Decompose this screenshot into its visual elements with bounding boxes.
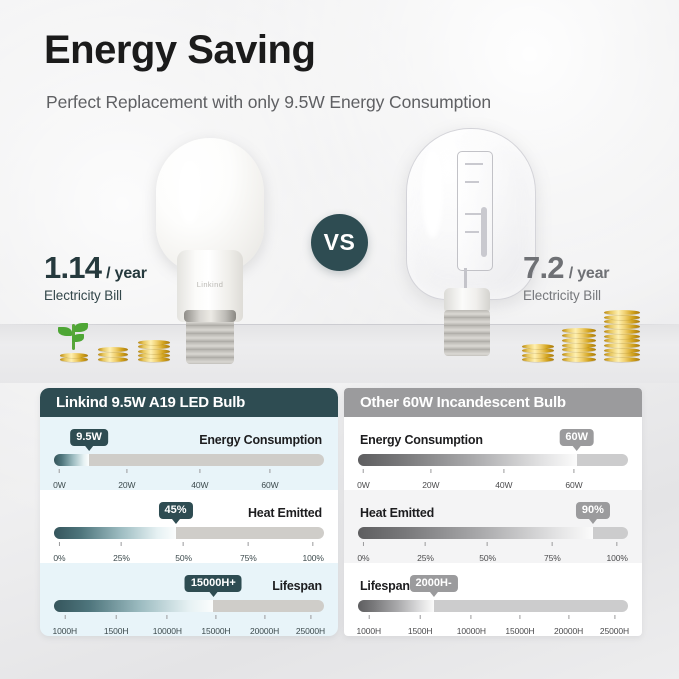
bill-amount: 7.2 (523, 250, 564, 286)
coin-stack (522, 344, 554, 362)
bill-period: / year (106, 265, 147, 283)
axis-tick: 15000H (201, 615, 230, 636)
coin (562, 352, 596, 357)
coin (604, 310, 640, 315)
coin (138, 353, 170, 358)
coin (604, 329, 640, 334)
metric-value-badge: 90% (576, 502, 610, 519)
electricity-bill-led: 1.14 / year Electricity Bill (44, 250, 147, 303)
incandescent-bulb-screw-base (444, 310, 490, 356)
filament-segment (465, 163, 483, 165)
metric-track (54, 527, 324, 539)
axis-tick: 25000H (600, 615, 629, 636)
metric-value-badge: 2000H- (410, 575, 458, 592)
coin (604, 348, 640, 353)
coin (562, 343, 596, 348)
filament-segment (465, 231, 479, 233)
coin (98, 352, 128, 357)
metric-row: Lifespan2000H-1000H1500H10000H15000H2000… (344, 563, 642, 636)
page-title: Energy Saving (44, 28, 315, 73)
coin (604, 315, 640, 320)
coin (562, 338, 596, 343)
metric-axis: 0%25%50%75%100% (54, 542, 324, 560)
electricity-bill-incandescent: 7.2 / year Electricity Bill (523, 250, 609, 303)
coin-stack (60, 353, 88, 362)
axis-tick: 1500H (408, 615, 433, 636)
metric-axis: 0W20W40W60W (358, 469, 628, 487)
axis-tick: 20000H (554, 615, 583, 636)
axis-tick: 10000H (457, 615, 486, 636)
metric-value-badge: 15000H+ (185, 575, 242, 592)
coin (604, 357, 640, 362)
coin (522, 357, 554, 362)
metric-track (54, 454, 324, 466)
incandescent-bulb-globe (406, 128, 536, 300)
comparison-panel-incandescent: Other 60W Incandescent Bulb Energy Consu… (344, 388, 642, 636)
metric-row: Heat Emitted45%0%25%50%75%100% (40, 490, 338, 563)
metric-fill (358, 454, 577, 466)
metric-axis: 0%25%50%75%100% (358, 542, 628, 560)
axis-tick: 10000H (153, 615, 182, 636)
metric-label: Lifespan (272, 579, 322, 593)
metric-track (358, 454, 628, 466)
led-bulb-brand-label: Linkind (177, 280, 243, 289)
panel-title-led: Linkind 9.5W A19 LED Bulb (40, 388, 338, 417)
coin (562, 333, 596, 338)
metric-track (54, 600, 324, 612)
plant-leaf-icon (74, 323, 88, 332)
metric-track (358, 527, 628, 539)
metric-row: Heat Emitted90%0%25%50%75%100% (344, 490, 642, 563)
coin-stack (604, 310, 640, 362)
metric-value-badge: 60W (559, 429, 594, 446)
coin (522, 344, 554, 349)
metric-value-badge: 9.5W (70, 429, 108, 446)
coin (98, 357, 128, 362)
axis-tick: 1000H (53, 615, 78, 636)
metric-axis: 1000H1500H10000H15000H20000H25000H (358, 615, 628, 633)
coin (604, 338, 640, 343)
axis-tick: 15000H (505, 615, 534, 636)
coin-stack (98, 347, 128, 362)
metric-label: Heat Emitted (248, 506, 322, 520)
coin (604, 352, 640, 357)
axis-tick: 1000H (357, 615, 382, 636)
coin (138, 357, 170, 362)
coin (562, 357, 596, 362)
coin-stack (562, 328, 596, 362)
plant-leaf-icon (58, 327, 72, 336)
metric-row: Energy Consumption60W0W20W40W60W (344, 417, 642, 490)
axis-tick: 1500H (104, 615, 129, 636)
infographic-root: Energy Saving Perfect Replacement with o… (0, 0, 679, 679)
bill-label: Electricity Bill (44, 288, 147, 303)
metric-fill (358, 527, 593, 539)
coin (604, 324, 640, 329)
metric-label: Energy Consumption (199, 433, 322, 447)
coin-stacks-led (44, 312, 184, 362)
axis-tick: 25000H (296, 615, 325, 636)
coin (138, 344, 170, 349)
comparison-panel-led: Linkind 9.5W A19 LED Bulb Energy Consump… (40, 388, 338, 636)
page-subtitle: Perfect Replacement with only 9.5W Energ… (46, 92, 491, 113)
bill-period: / year (569, 265, 610, 283)
metric-row: Energy Consumption9.5W0W20W40W60W (40, 417, 338, 490)
metric-label: Lifespan (360, 579, 410, 593)
coin (98, 347, 128, 352)
metric-axis: 1000H1500H10000H15000H20000H25000H (54, 615, 324, 633)
coin-stacks-incandescent (518, 300, 648, 362)
coin-stack (138, 340, 170, 362)
coin (562, 328, 596, 333)
axis-tick: 20000H (250, 615, 279, 636)
panel-title-incandescent: Other 60W Incandescent Bulb (344, 388, 642, 417)
led-bulb-screw-base (186, 318, 234, 364)
metric-fill (358, 600, 434, 612)
metric-row: Lifespan15000H+1000H1500H10000H15000H200… (40, 563, 338, 636)
filament-support (481, 207, 487, 257)
coin (604, 334, 640, 339)
plant-leaf-icon (72, 334, 84, 342)
metric-label: Heat Emitted (360, 506, 434, 520)
metric-fill (54, 454, 89, 466)
metric-label: Energy Consumption (360, 433, 483, 447)
metric-track (358, 600, 628, 612)
halogen-capsule (457, 151, 493, 271)
vs-badge: VS (311, 214, 368, 271)
metric-value-badge: 45% (158, 502, 192, 519)
metric-fill (54, 527, 176, 539)
coin (604, 343, 640, 348)
coin (138, 340, 170, 345)
filament-segment (465, 181, 479, 183)
coin (522, 353, 554, 358)
metric-fill (54, 600, 213, 612)
coin (60, 353, 88, 358)
metric-axis: 0W20W40W60W (54, 469, 324, 487)
coin (138, 349, 170, 354)
bill-amount: 1.14 (44, 250, 101, 286)
